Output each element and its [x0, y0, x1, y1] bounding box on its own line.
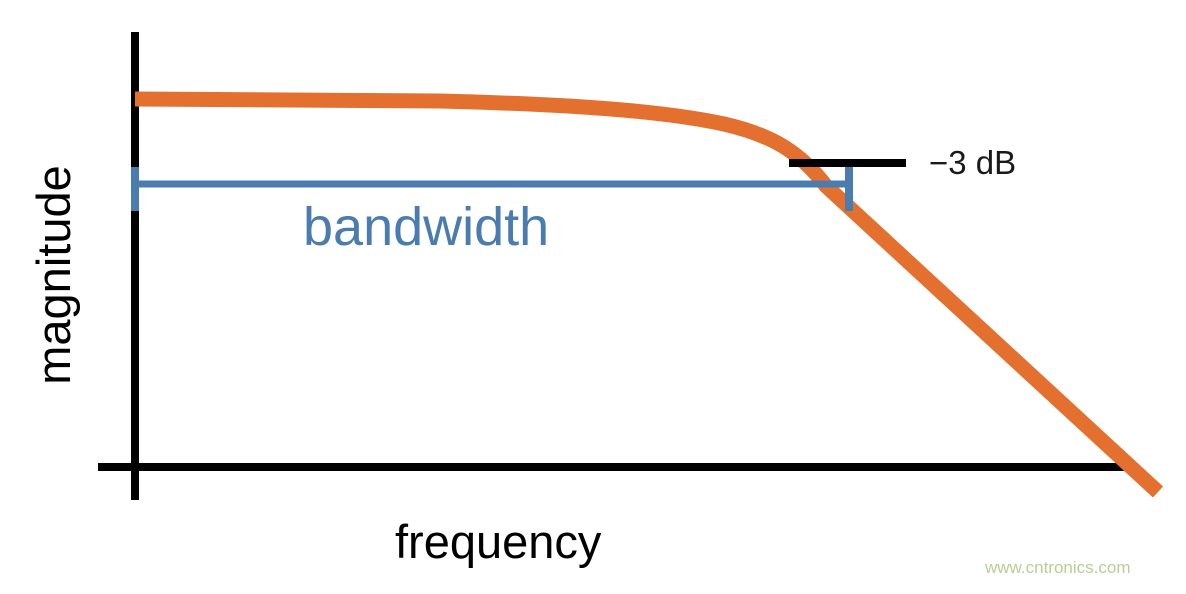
bandwidth-annotation-label: bandwidth [303, 200, 549, 254]
cutoff-annotation-label: −3 dB [929, 146, 1016, 179]
x-axis-label: frequency [395, 518, 601, 565]
chart-canvas: magnitude frequency bandwidth −3 dB www.… [0, 0, 1186, 594]
watermark-text: www.cntronics.com [985, 559, 1130, 576]
y-axis-label: magnitude [30, 135, 90, 415]
frequency-response-plot [0, 0, 1186, 594]
